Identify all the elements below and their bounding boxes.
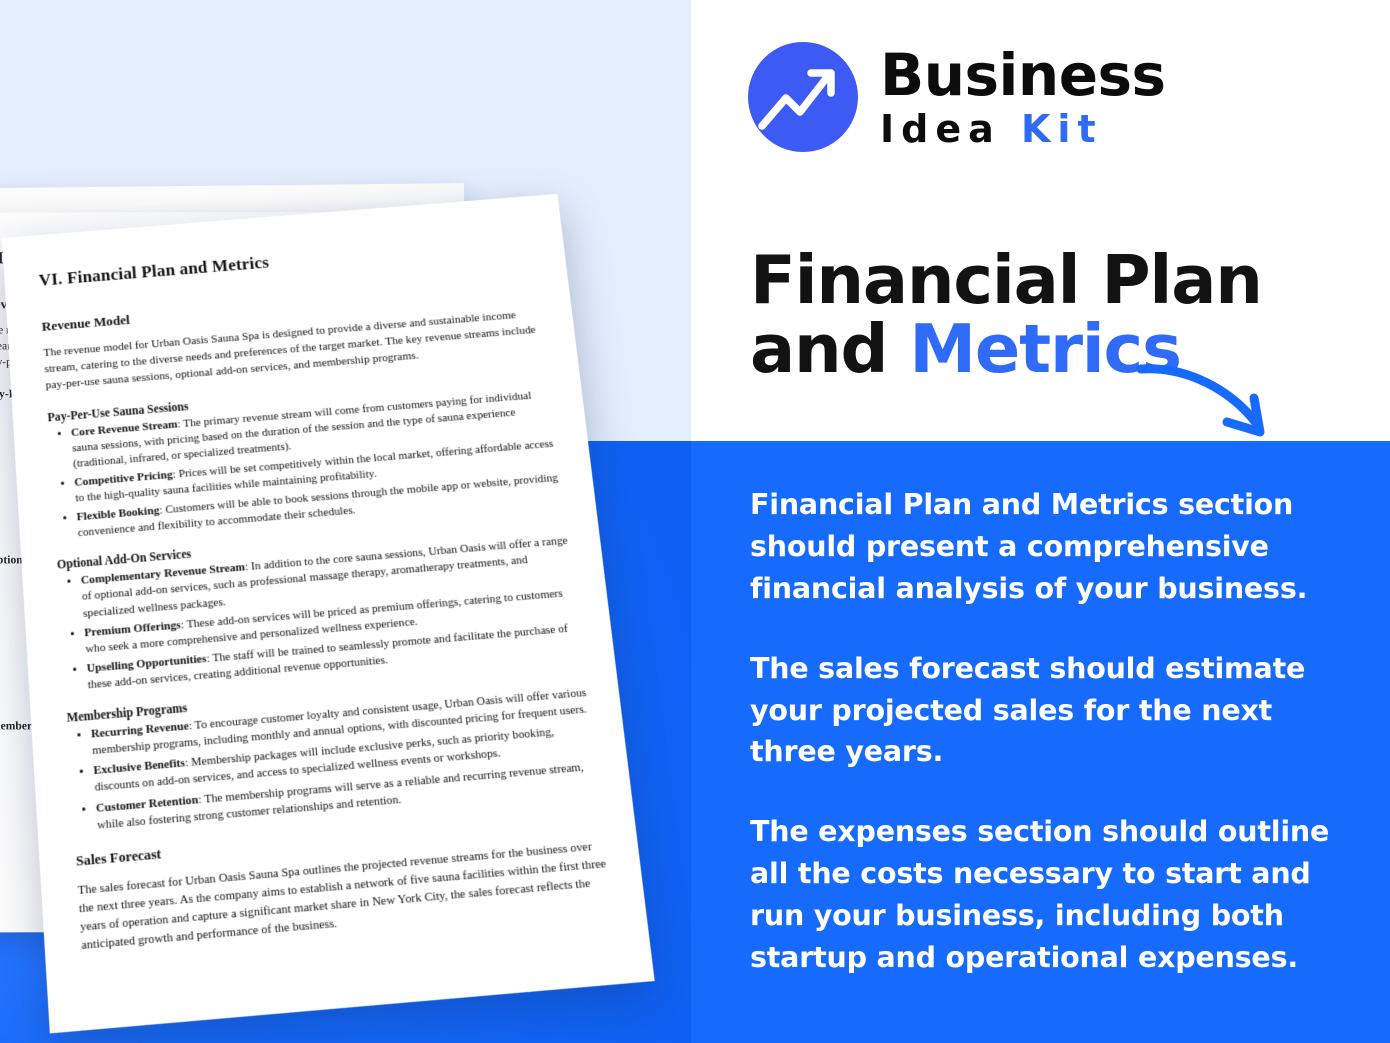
panel-paragraph-2: The sales forecast should estimate your … <box>750 648 1350 774</box>
panel-paragraph-3: The expenses section should outline all … <box>750 811 1350 979</box>
doc-group-pay-per-use: Pay-Per-Use Sauna Sessions Core Revenue … <box>47 370 564 544</box>
brand-name-kit: Kit <box>1021 107 1103 151</box>
curved-arrow-down-right-icon <box>1135 352 1300 457</box>
brand-name-idea: Idea <box>880 107 1021 151</box>
brand-wordmark: Business Idea Kit <box>880 46 1166 148</box>
brand-logo: Business Idea Kit <box>748 42 1166 152</box>
panel-paragraph-1: Financial Plan and Metrics section shoul… <box>750 484 1350 610</box>
page-title-line2-plain: and <box>750 310 909 388</box>
brand-name-primary: Business <box>880 46 1166 104</box>
doc-title: VI. Financial Plan and Metrics <box>38 232 534 291</box>
doc-group-membership-programs: Membership Programs Recurring Revenue: T… <box>66 668 599 836</box>
document-stack: VI. Financial Plan and Metrics Revenue M… <box>0 186 630 976</box>
slide-canvas: VI. Financial Plan and Metrics Revenue M… <box>0 0 1390 1043</box>
page-title-line1: Financial Plan <box>750 241 1262 319</box>
trending-up-circle-icon <box>748 42 858 152</box>
document-page-front: VI. Financial Plan and Metrics Revenue M… <box>2 194 655 1034</box>
doc-group-optional-add-ons: Optional Add-On Services Complementary R… <box>57 516 583 695</box>
brand-name-secondary: Idea Kit <box>880 110 1166 148</box>
panel-description: Financial Plan and Metrics section shoul… <box>750 484 1350 979</box>
